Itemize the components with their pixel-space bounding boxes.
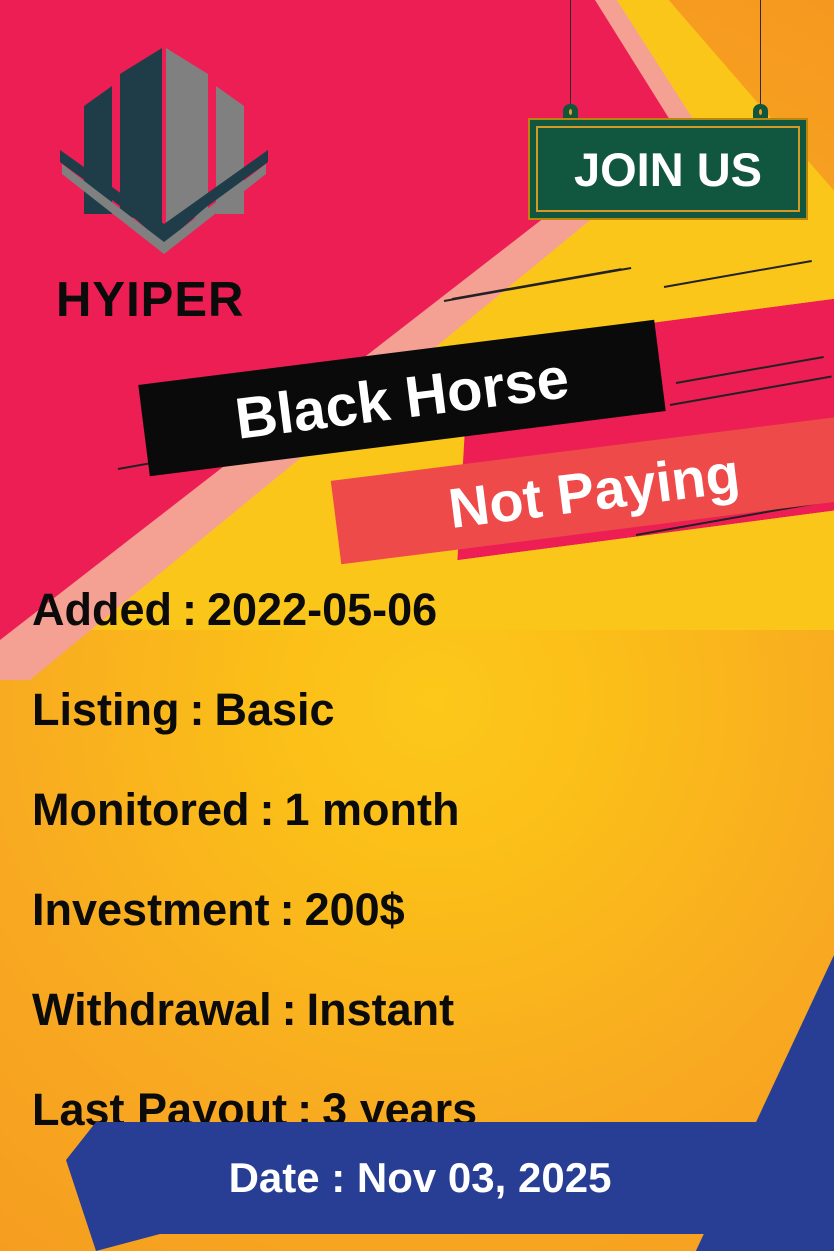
date-footer-bar: Date : Nov 03, 2025 xyxy=(0,1122,834,1251)
detail-label: Monitored xyxy=(32,784,249,836)
sign-string-left xyxy=(570,0,571,110)
date-footer-inner: Date : Nov 03, 2025 xyxy=(60,1122,780,1234)
join-us-label: JOIN US xyxy=(574,142,762,197)
detail-value: Basic xyxy=(214,684,334,736)
join-us-board[interactable]: JOIN US xyxy=(528,118,808,220)
detail-row-investment: Investment : 200$ xyxy=(32,860,732,960)
detail-separator: : xyxy=(179,684,214,736)
detail-row-withdrawal: Withdrawal : Instant xyxy=(32,960,732,1060)
detail-separator: : xyxy=(270,884,305,936)
detail-separator: : xyxy=(249,784,284,836)
program-details-list: Added : 2022-05-06 Listing : Basic Monit… xyxy=(32,560,732,1160)
detail-label: Investment xyxy=(32,884,270,936)
join-us-sign[interactable]: JOIN US xyxy=(528,0,808,225)
building-skyline-chevron-logo-icon xyxy=(52,38,272,263)
detail-value: 1 month xyxy=(284,784,459,836)
detail-value: Instant xyxy=(307,984,455,1036)
detail-label: Listing xyxy=(32,684,179,736)
detail-label: Withdrawal xyxy=(32,984,272,1036)
detail-row-monitored: Monitored : 1 month xyxy=(32,760,732,860)
hyip-listing-card: HYIPER JOIN US Black Horse Not Paying Ad… xyxy=(0,0,834,1251)
date-text: Date : Nov 03, 2025 xyxy=(229,1154,612,1202)
detail-row-added: Added : 2022-05-06 xyxy=(32,560,732,660)
sign-string-right xyxy=(760,0,761,110)
detail-separator: : xyxy=(172,584,207,636)
detail-separator: : xyxy=(272,984,307,1036)
detail-value: 200$ xyxy=(305,884,405,936)
detail-row-listing: Listing : Basic xyxy=(32,660,732,760)
detail-label: Added xyxy=(32,584,172,636)
detail-value: 2022-05-06 xyxy=(207,584,437,636)
brand-name: HYIPER xyxy=(56,272,244,328)
